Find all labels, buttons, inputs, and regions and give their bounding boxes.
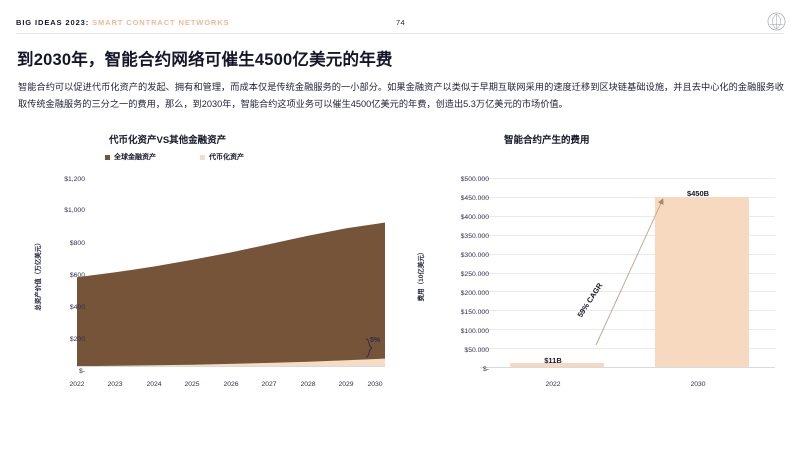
chart-tokenized-vs-other: 代币化资产VS其他金融资产 全球金融资产 代币化资产 总资产价值（万亿美元） (20, 130, 410, 395)
y-tick-right: $400.000 (432, 214, 489, 221)
x-tick-left: 2028 (291, 381, 325, 388)
y-tick-left: $600 (40, 272, 85, 279)
x-tick-left: 2024 (137, 381, 171, 388)
legend-item-global-assets: 全球金融资产 (105, 152, 156, 162)
ark-circle-logo-icon (767, 12, 786, 31)
bar-label-2022: $11B (513, 356, 593, 365)
area-global-assets (77, 223, 385, 368)
y-tick-left: $1,200 (40, 176, 85, 183)
breadcrumb-separator: : (86, 18, 89, 27)
brand-label: BIG IDEAS 2023 (16, 18, 86, 27)
y-tick-left: $400 (40, 304, 85, 311)
axis-baseline-left (77, 366, 385, 367)
gridline (480, 178, 775, 179)
body-paragraph: 智能合约可以促进代币化资产的发起、拥有和管理，而成本仅是传统金融服务的一小部分。… (18, 79, 784, 112)
y-tick-right: $500.000 (432, 176, 489, 183)
annotation-5-percent: 5% (370, 337, 380, 344)
x-tick-right: 2030 (658, 381, 738, 388)
y-tick-right: $350.000 (432, 233, 489, 240)
chart-smart-contract-fees: 智能合约产生的费用 费用（10亿美元） (412, 130, 790, 395)
chart-title-right: 智能合约产生的费用 (504, 132, 590, 146)
bar-label-2030: $450B (658, 189, 738, 198)
legend-swatch-icon (200, 155, 205, 160)
plot-area-right (480, 178, 775, 375)
y-tick-right: $100.000 (432, 328, 489, 335)
axis-baseline-right (480, 367, 775, 368)
y-tick-right: $200.000 (432, 290, 489, 297)
section-label: SMART CONTRACT NETWORKS (92, 18, 229, 27)
page-title: 到2030年，智能合约网络可催生4500亿美元的年费 (17, 46, 393, 70)
growth-arrow-icon (592, 193, 672, 348)
x-tick-left: 2023 (98, 381, 132, 388)
x-tick-left: 2027 (252, 381, 286, 388)
legend-swatch-icon (105, 155, 110, 160)
header-divider (16, 33, 784, 34)
x-tick-right: 2022 (513, 381, 593, 388)
y-tick-right: $250.000 (432, 271, 489, 278)
legend-label: 代币化资产 (209, 152, 244, 162)
y-tick-right: $150.000 (432, 309, 489, 316)
x-tick-left: 2022 (60, 381, 94, 388)
x-tick-left: 2026 (214, 381, 248, 388)
chart-legend-left: 全球金融资产 代币化资产 (105, 152, 244, 162)
y-tick-right: $50.000 (432, 347, 489, 354)
page-number: 74 (396, 18, 405, 27)
y-tick-left: $1,000 (40, 207, 85, 214)
legend-item-tokenized-assets: 代币化资产 (200, 152, 244, 162)
chart-title-left: 代币化资产VS其他金融资产 (109, 132, 226, 146)
area-series-svg (77, 178, 385, 375)
x-tick-left: 2030 (358, 381, 392, 388)
plot-area-left (77, 178, 385, 375)
y-tick-right: $300.000 (432, 252, 489, 259)
legend-label: 全球金融资产 (114, 152, 156, 162)
y-tick-left: $200 (40, 336, 85, 343)
y-tick-right: $- (432, 366, 489, 373)
y-tick-right: $450.000 (432, 195, 489, 202)
page-header: BIG IDEAS 2023: SMART CONTRACT NETWORKS … (0, 0, 800, 34)
y-tick-left: $800 (40, 240, 85, 247)
y-tick-left: $- (40, 368, 85, 375)
x-tick-left: 2025 (175, 381, 209, 388)
y-axis-label-right: 费用（10亿美元） (415, 231, 425, 319)
breadcrumb: BIG IDEAS 2023: SMART CONTRACT NETWORKS (16, 18, 229, 27)
